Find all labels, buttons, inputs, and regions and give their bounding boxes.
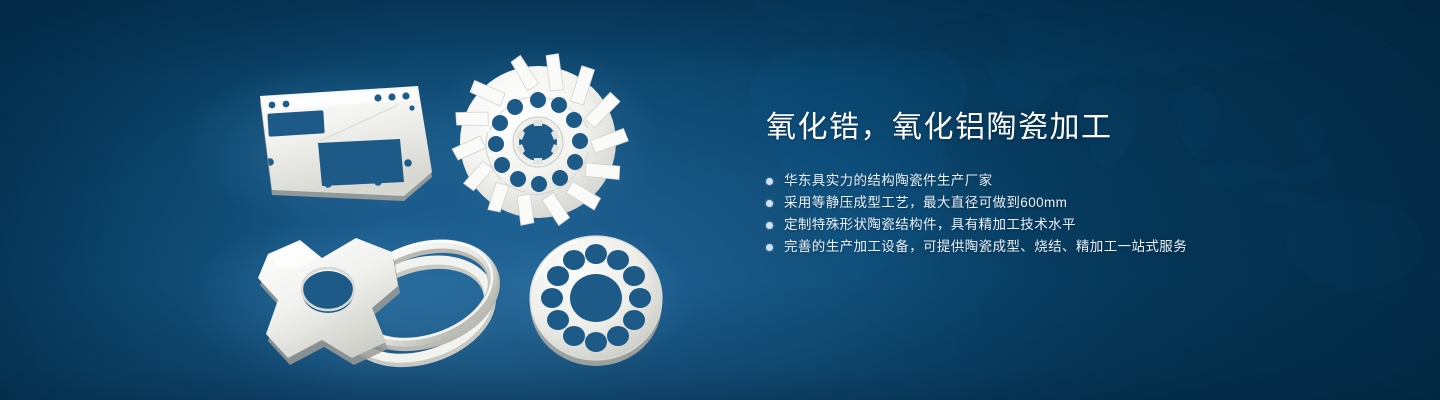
ceramic-cross-part — [258, 238, 400, 365]
feature-text: 华东具实力的结构陶瓷件生产厂家 — [784, 170, 993, 192]
ceramic-products-image — [0, 0, 720, 400]
list-item: 华东具实力的结构陶瓷件生产厂家 — [766, 170, 1386, 192]
list-item: 定制特殊形状陶瓷结构件，具有精加工技术水平 — [766, 214, 1386, 236]
page-title: 氧化锆，氧化铝陶瓷加工 — [766, 108, 1386, 148]
ceramic-perforated-disc-part — [530, 236, 662, 366]
banner-copy: 氧化锆，氧化铝陶瓷加工 华东具实力的结构陶瓷件生产厂家 采用等静压成型工艺，最大… — [766, 108, 1386, 258]
feature-text: 定制特殊形状陶瓷结构件，具有精加工技术水平 — [784, 214, 1076, 236]
feature-text: 完善的生产加工设备，可提供陶瓷成型、烧结、精加工一站式服务 — [784, 236, 1187, 258]
feature-text: 采用等静压成型工艺，最大直径可做到600mm — [784, 192, 1067, 214]
bullet-dot-icon — [766, 200, 773, 207]
bullet-dot-icon — [766, 222, 773, 229]
bullet-dot-icon — [766, 178, 773, 185]
list-item: 完善的生产加工设备，可提供陶瓷成型、烧结、精加工一站式服务 — [766, 236, 1386, 258]
feature-list: 华东具实力的结构陶瓷件生产厂家 采用等静压成型工艺，最大直径可做到600mm 定… — [766, 170, 1386, 258]
bullet-dot-icon — [766, 244, 773, 251]
hero-banner: 氧化锆，氧化铝陶瓷加工 华东具实力的结构陶瓷件生产厂家 采用等静压成型工艺，最大… — [0, 0, 1440, 400]
list-item: 采用等静压成型工艺，最大直径可做到600mm — [766, 192, 1386, 214]
ceramic-plate-part — [260, 86, 432, 201]
